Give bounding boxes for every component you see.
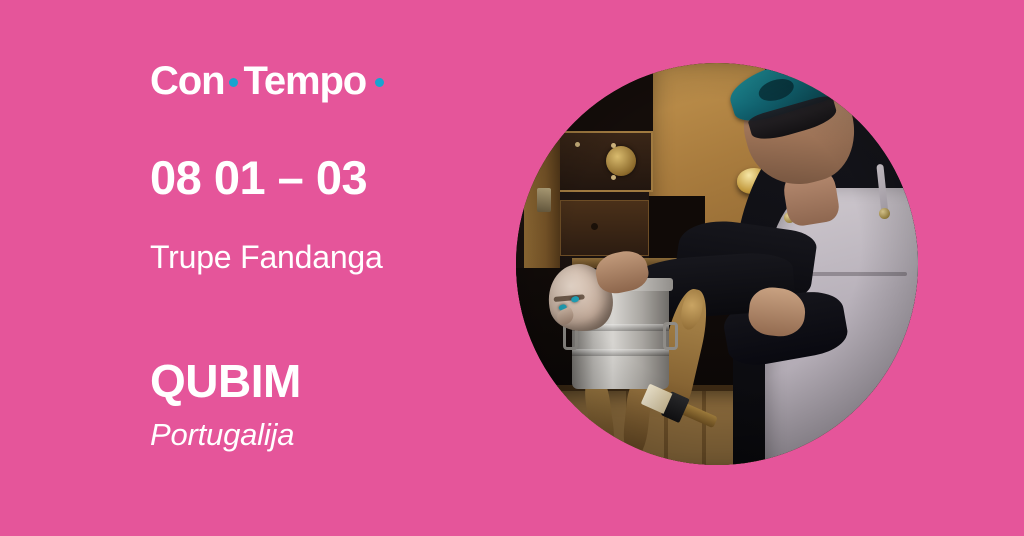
event-show-title: QUBIM (150, 356, 301, 406)
bucket-handle (663, 322, 678, 350)
puppet-brow (554, 294, 585, 302)
cabinet-drawer (560, 200, 648, 256)
puppet-nose (555, 306, 576, 327)
cabinet-cavity (548, 71, 653, 131)
screw-icon (575, 142, 580, 147)
event-country: Portugalija (150, 417, 294, 453)
event-date: 08 01 – 03 (150, 152, 367, 204)
apron-strap-ring (879, 208, 890, 219)
drawer-knob-icon (591, 223, 598, 230)
event-photo-circle (516, 63, 918, 465)
brass-dial-icon (606, 146, 636, 176)
logo-word-tempo: Tempo (243, 61, 366, 101)
festival-logo: Con Tempo (150, 61, 384, 101)
event-poster: Con Tempo 08 01 – 03 Trupe Fandanga QUBI… (0, 0, 1024, 536)
logo-separator-dot-icon (229, 78, 238, 87)
logo-trailing-dot-icon (375, 78, 384, 87)
event-photo (516, 63, 918, 465)
logo-word-con: Con (150, 61, 224, 101)
screw-icon (611, 175, 616, 180)
bucket-band (572, 349, 668, 356)
cabinet-drawer-with-dial (544, 131, 653, 191)
event-company: Trupe Fandanga (150, 238, 383, 276)
hinge-icon (537, 188, 551, 212)
puppet-eye (571, 296, 580, 304)
poster-text-column: Con Tempo 08 01 – 03 Trupe Fandanga QUBI… (150, 0, 480, 536)
